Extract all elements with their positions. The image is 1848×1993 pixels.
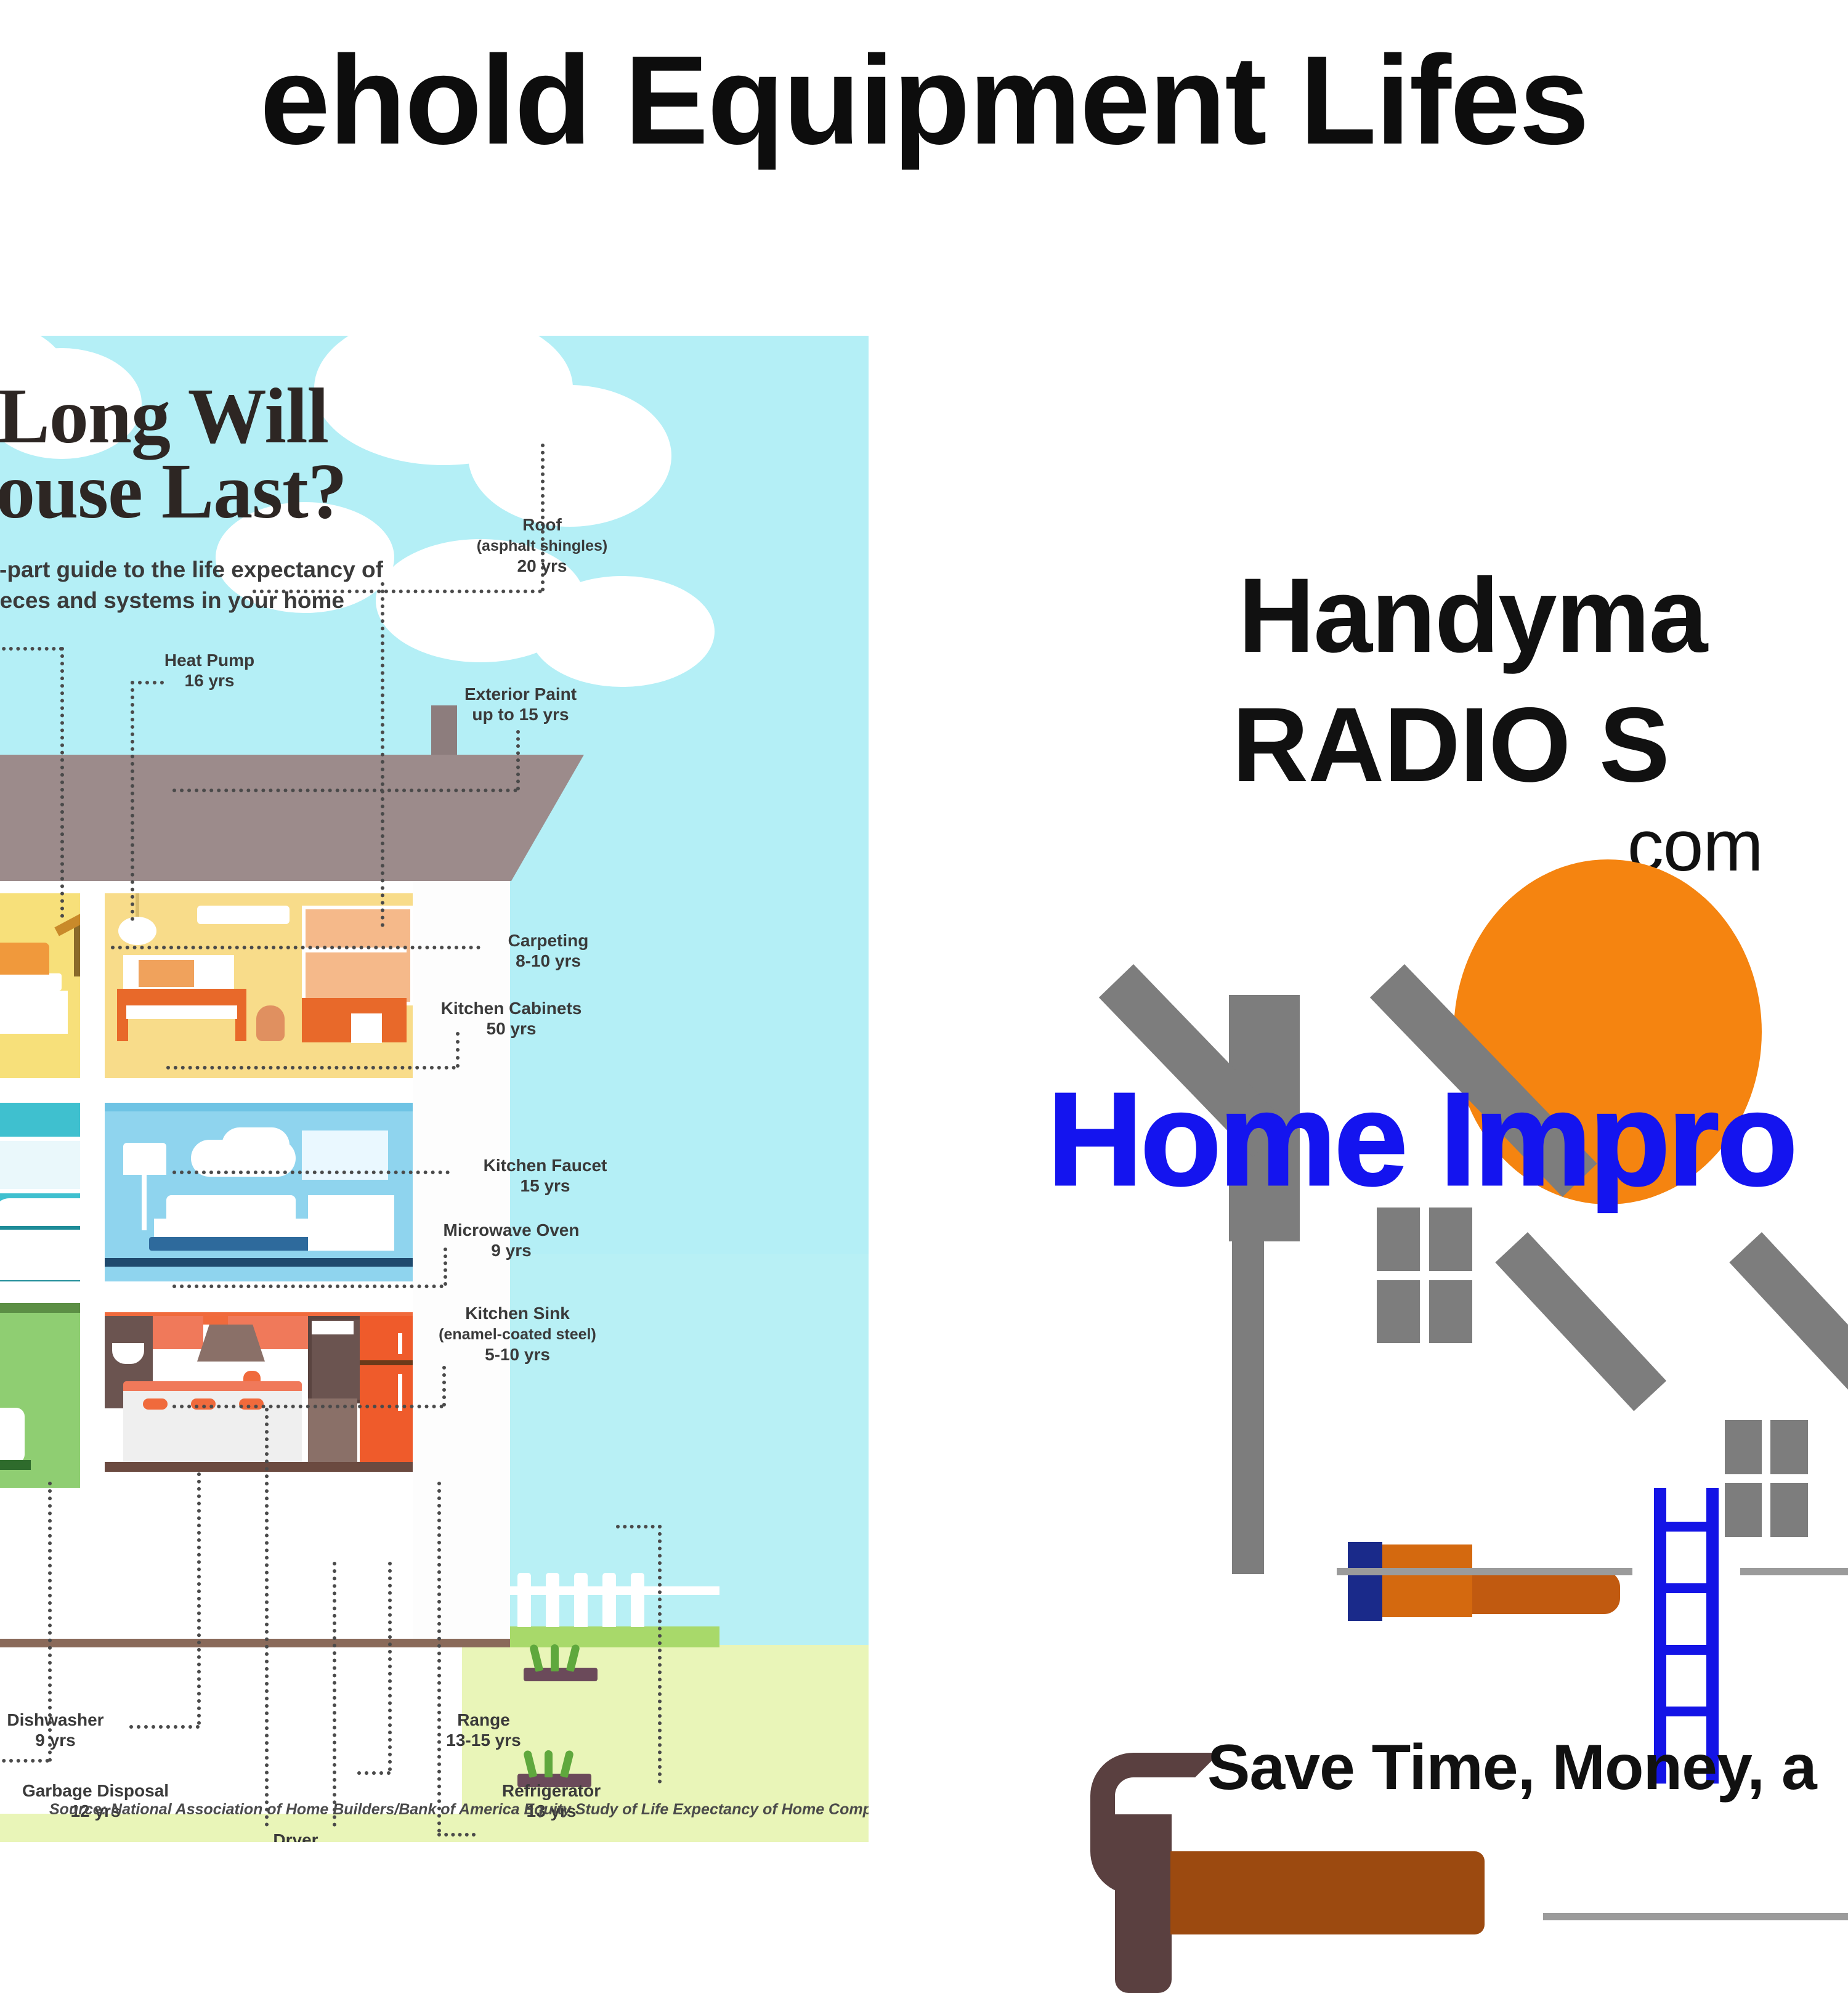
leader-line <box>442 1366 446 1406</box>
ladder-rung <box>1654 1645 1719 1655</box>
ladder-rung <box>1654 1583 1719 1593</box>
infographic-subtitle-line1: A part-by-part guide to the life expecta… <box>0 554 400 585</box>
house2-roof-right <box>1729 1232 1848 1434</box>
callout-carpeting: Carpeting 8-10 yrs <box>480 930 616 971</box>
infographic-title: ow Long Will r House Last? <box>0 379 437 529</box>
brand-line-radio-show: RADIO S <box>1232 684 1669 806</box>
leader-line <box>166 1066 456 1070</box>
leader-line <box>253 590 542 593</box>
page-title: ehold Equipment Lifes <box>0 37 1848 163</box>
hammer-handle-icon <box>1170 1851 1485 1934</box>
leader-line <box>265 1408 269 1827</box>
house-wall-left <box>1232 1192 1264 1574</box>
ladder-rung <box>1654 1522 1719 1532</box>
callout-dryer: Dryer 13 yrs <box>228 1830 363 1842</box>
infographic-panel: ow Long Will r House Last? A part-by-par… <box>0 336 869 1842</box>
callout-kitchen-cabinets: Kitchen Cabinets 50 yrs <box>419 998 604 1039</box>
leader-line <box>616 1525 662 1528</box>
brand-line-handyman: Handyma <box>1238 554 1706 676</box>
fence-picket <box>602 1573 616 1627</box>
house-roof-slab <box>0 767 511 881</box>
callout-dishwasher: Dishwasher 9 yrs <box>0 1710 136 1750</box>
infographic-title-line1: ow Long Will <box>0 379 437 454</box>
roof-right-slope <box>511 755 584 881</box>
callout-range: Range 13-15 yrs <box>413 1710 554 1750</box>
room-home-office <box>0 893 80 1078</box>
house2-roof-left <box>1495 1232 1666 1411</box>
divider-rule <box>1543 1913 1848 1920</box>
leader-line <box>437 1482 441 1833</box>
cloud-icon <box>530 576 715 687</box>
window-icon <box>1377 1208 1472 1343</box>
leader-line <box>111 946 480 949</box>
leader-line <box>131 681 134 921</box>
leader-line <box>388 1562 392 1771</box>
brand-tagline: Save Time, Money, a <box>1207 1731 1817 1804</box>
callout-microwave-oven: Microwave Oven 9 yrs <box>419 1220 604 1260</box>
ladder-rung <box>1654 1707 1719 1716</box>
infographic-source: Source: National Association of Home Bui… <box>49 1801 727 1819</box>
leader-line <box>172 1171 450 1174</box>
leader-line <box>197 1472 201 1725</box>
room-living <box>0 1303 80 1488</box>
paintbrush-ferrule <box>1371 1544 1472 1617</box>
callout-windows: Windows 15-30 yrs <box>0 616 18 657</box>
callout-roof: Roof (asphalt shingles) 20 yrs <box>456 514 628 576</box>
infographic-title-line2: r House Last? <box>0 454 437 529</box>
room-master-bedroom <box>105 1103 413 1281</box>
callout-exterior-paint: Exterior Paint up to 15 yrs <box>437 684 604 725</box>
brand-block: Handyma RADIO S .com <box>893 336 1848 1848</box>
leader-line <box>658 1525 662 1784</box>
leader-line <box>357 1771 391 1775</box>
paintbrush-handle <box>1466 1571 1620 1614</box>
leader-line <box>437 1833 476 1837</box>
divider-rule <box>1740 1568 1848 1575</box>
leader-line <box>516 730 520 790</box>
divider-rule <box>1337 1568 1632 1575</box>
leader-line <box>0 1759 49 1763</box>
fence-picket <box>574 1573 588 1627</box>
leader-line <box>60 647 64 918</box>
cloud-icon <box>468 385 671 527</box>
logo-wordmark: Home Impro <box>1047 1063 1795 1216</box>
fence-picket <box>631 1573 644 1627</box>
house-floor-slab <box>0 1639 510 1647</box>
leader-line <box>172 1405 444 1408</box>
house-roof <box>0 755 511 768</box>
window2-icon <box>1725 1420 1808 1537</box>
room-bathroom <box>0 1103 80 1281</box>
paintbrush-bristles <box>1348 1542 1366 1621</box>
leader-line <box>172 789 517 792</box>
house-right-wall <box>413 881 510 1645</box>
hammer-head-icon <box>1115 1814 1172 1993</box>
callout-heat-pump: Heat Pump 16 yrs <box>129 650 290 691</box>
fence-picket <box>546 1573 559 1627</box>
leader-line <box>172 1285 444 1288</box>
infographic-subtitle: A part-by-part guide to the life expecta… <box>0 554 400 616</box>
leader-line <box>333 1562 336 1827</box>
callout-kitchen-sink: Kitchen Sink (enamel-coated steel) 5-10 … <box>419 1303 616 1365</box>
room-kids-bedroom <box>105 893 413 1078</box>
fence-picket <box>517 1573 531 1627</box>
callout-kitchen-faucet: Kitchen Faucet 15 yrs <box>456 1155 634 1196</box>
leader-line <box>381 582 384 927</box>
leader-line <box>129 1725 200 1729</box>
shrub-icon <box>524 1641 598 1681</box>
